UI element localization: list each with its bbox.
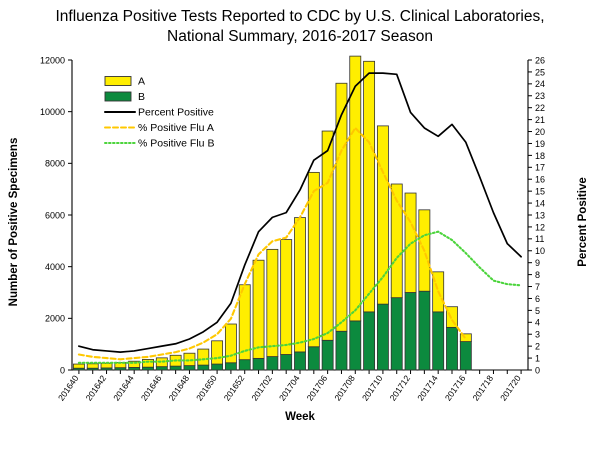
bar-segment-flu-b xyxy=(364,312,375,370)
y-axis-right-tick-label: 18 xyxy=(535,151,545,161)
bar-segment-flu-b xyxy=(405,293,416,371)
bar-segment-flu-b xyxy=(184,366,195,370)
y-axis-left-tick-label: 4000 xyxy=(45,262,65,272)
bar-segment-flu-b xyxy=(156,367,167,370)
y-axis-right-tick-label: 0 xyxy=(535,365,540,375)
y-axis-right-tick-label: 9 xyxy=(535,258,540,268)
influenza-positive-tests-chart: Influenza Positive Tests Reported to CDC… xyxy=(0,0,600,450)
bar-segment-flu-b xyxy=(142,367,153,370)
y-axis-left-tick-label: 2000 xyxy=(45,314,65,324)
bar-segment-flu-b xyxy=(212,364,223,370)
bar-segment-flu-a xyxy=(267,249,278,356)
y-axis-right-tick-label: 8 xyxy=(535,270,540,280)
bar-segment-flu-a xyxy=(281,240,292,355)
bar-segment-flu-b xyxy=(294,352,305,370)
bar-segment-flu-b xyxy=(446,327,457,370)
y-axis-right-tick-label: 13 xyxy=(535,210,545,220)
bar-segment-flu-b xyxy=(308,347,319,370)
bar-segment-flu-a xyxy=(212,341,223,364)
bar-segment-flu-a xyxy=(142,359,153,367)
y-axis-right-tick-label: 17 xyxy=(535,163,545,173)
bar-segment-flu-a xyxy=(364,61,375,312)
legend-label: % Positive Flu B xyxy=(138,138,214,150)
legend-label: B xyxy=(138,91,145,103)
y-axis-right-tick-label: 3 xyxy=(535,330,540,340)
y-axis-right-tick-label: 21 xyxy=(535,115,545,125)
bar-segment-flu-b xyxy=(239,360,250,370)
y-axis-right-tick-label: 10 xyxy=(535,246,545,256)
bar-segment-flu-b xyxy=(281,355,292,371)
y-axis-left-tick-label: 0 xyxy=(60,365,65,375)
y-axis-right-tick-label: 25 xyxy=(535,67,545,77)
bar-segment-flu-a xyxy=(101,363,112,368)
y-axis-right-tick-label: 5 xyxy=(535,306,540,316)
chart-title-line-2: National Summary, 2016-2017 Season xyxy=(167,28,433,45)
bar-segment-flu-a xyxy=(294,218,305,352)
y-axis-right-tick-label: 4 xyxy=(535,318,540,328)
y-axis-right-tick-label: 23 xyxy=(535,91,545,101)
bar-segment-flu-b xyxy=(267,357,278,370)
y-axis-left-tick-label: 6000 xyxy=(45,210,65,220)
y-axis-right-tick-label: 7 xyxy=(535,282,540,292)
y-axis-right-tick-label: 12 xyxy=(535,222,545,232)
y-axis-right-tick-label: 24 xyxy=(535,79,545,89)
bar-segment-flu-a xyxy=(336,83,347,331)
y-axis-right-tick-label: 15 xyxy=(535,187,545,197)
legend-label: A xyxy=(138,76,145,88)
y-axis-right-tick-label: 26 xyxy=(535,55,545,65)
chart-title-line-1: Influenza Positive Tests Reported to CDC… xyxy=(55,8,544,25)
bar-segment-flu-b xyxy=(336,331,347,370)
legend-label: Percent Positive xyxy=(138,107,214,119)
y-axis-right-tick-label: 11 xyxy=(535,234,544,244)
y-axis-right-tick-label: 19 xyxy=(535,139,545,149)
bar-segment-flu-b xyxy=(377,304,388,370)
bar-segment-flu-a xyxy=(87,364,98,368)
bar-segment-flu-a xyxy=(198,349,209,365)
legend-label: % Positive Flu A xyxy=(138,122,214,134)
bar-segment-flu-a xyxy=(322,131,333,340)
y-axis-right-tick-label: 14 xyxy=(535,198,545,208)
bar-segment-flu-a xyxy=(253,260,264,358)
y-axis-right-tick-label: 22 xyxy=(535,103,545,113)
y-axis-left-tick-label: 10000 xyxy=(40,107,65,117)
chart-container: Influenza Positive Tests Reported to CDC… xyxy=(0,0,600,450)
bar-segment-flu-b xyxy=(350,321,361,370)
bar-segment-flu-a xyxy=(156,358,167,367)
y-axis-right-tick-label: 20 xyxy=(535,127,545,137)
bar-segment-flu-b xyxy=(460,342,471,370)
y-axis-left-tick-label: 8000 xyxy=(45,159,65,169)
y-axis-left-tick-label: 12000 xyxy=(40,55,65,65)
bar-segment-flu-b xyxy=(225,363,236,370)
y-axis-left-title: Number of Positive Specimens xyxy=(8,138,20,307)
bar-segment-flu-b xyxy=(433,312,444,370)
y-axis-right-tick-label: 16 xyxy=(535,175,545,185)
x-axis-title: Week xyxy=(285,411,315,423)
bar-segment-flu-b xyxy=(391,298,402,370)
y-axis-right-tick-label: 1 xyxy=(535,353,540,363)
legend-swatch xyxy=(105,92,131,101)
bar-segment-flu-a xyxy=(73,364,84,368)
legend-swatch xyxy=(105,77,131,86)
bar-segment-flu-b xyxy=(253,358,264,370)
y-axis-right-tick-label: 2 xyxy=(535,342,540,352)
bar-segment-flu-b xyxy=(198,365,209,370)
y-axis-right-title: Percent Positive xyxy=(577,177,589,266)
bar-segment-flu-a xyxy=(184,353,195,365)
y-axis-right-tick-label: 6 xyxy=(535,294,540,304)
bar-segment-flu-b xyxy=(419,291,430,370)
bar-segment-flu-b xyxy=(170,366,181,370)
bar-segment-flu-b xyxy=(322,340,333,370)
